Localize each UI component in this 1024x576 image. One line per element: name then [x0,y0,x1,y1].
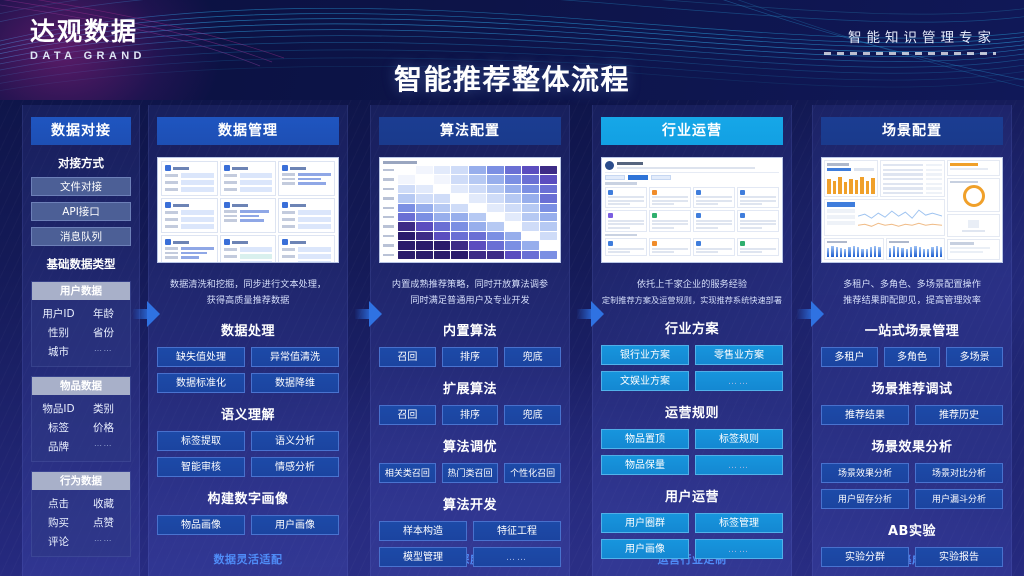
chip-group-user-operation: 用户圈群 标签管理 用户画像 …… [601,513,783,559]
footer-tag-data-management: 数据灵活适配 [148,551,348,567]
field-purchase: 购买 [36,515,81,530]
field-item-more: …… [81,439,126,454]
field-behavior-more: …… [81,534,126,549]
desc-line: 同时满足普通用户及专业开发 [379,293,561,309]
chip-user-portrait[interactable]: 用户画像 [601,539,689,559]
desc-line: 多租户、多角色、多场景配置操作 [821,277,1003,293]
column-algorithm-config: 算法配置 内置成熟推荐策略，同时开放算法调参 同时满足普通用户及专业开发 内置算… [370,105,570,576]
group-header-user-data: 用户数据 [32,282,130,300]
chip-entertainment-solution[interactable]: 文娱业方案 [601,371,689,391]
page-title: 智能推荐整体流程 [0,58,1024,98]
logo-chinese: 达观数据 [30,18,146,47]
chip-feature-engineering[interactable]: 特征工程 [473,521,561,541]
chip-group-algorithm-tuning: 相关类召回 热门类召回 个性化召回 [379,463,561,483]
field-tag: 标签 [36,420,81,435]
chip-tag-extraction[interactable]: 标签提取 [157,431,245,451]
field-favorite: 收藏 [81,496,126,511]
chip-group-industry-solution: 银行业方案 零售业方案 文娱业方案 …… [601,345,783,391]
tagline-block: 智能知识管理专家 [824,26,996,55]
field-province: 省份 [81,325,126,340]
column-scene-config: 场景配置 [812,105,1012,576]
chip-recommend-result[interactable]: 推荐结果 [821,405,909,425]
field-city: 城市 [36,344,81,359]
chip-hot-recall[interactable]: 热门类召回 [442,463,499,483]
desc-line: 数据清洗和挖掘，同步进行文本处理， [157,277,339,293]
section-title-operation-rules: 运营规则 [601,402,783,421]
chip-group-scene-debug: 推荐结果 推荐历史 [821,405,1003,425]
desc-line: 依托上千家企业的服务经验 [601,277,783,293]
chip-missing-value[interactable]: 缺失值处理 [157,347,245,367]
section-title-semantic: 语义理解 [157,404,339,423]
chip-tag-management[interactable]: 标签管理 [695,513,783,533]
tagline-divider [824,52,996,55]
chip-group-digital-profile: 物品画像 用户画像 [157,515,339,535]
section-title-algorithm-tuning: 算法调优 [379,436,561,455]
subtitle-docking-method: 对接方式 [31,155,131,171]
chip-industry-solution-more[interactable]: …… [695,371,783,391]
slide-canvas: 达观数据 DATA GRAND 智能知识管理专家 智能推荐整体流程 数据对接 对… [0,0,1024,576]
field-item-id: 物品ID [36,401,81,416]
section-title-digital-profile: 构建数字画像 [157,488,339,507]
chip-user-retention-analysis[interactable]: 用户留存分析 [821,489,909,509]
screenshot-scene-dashboard [821,157,1003,263]
arrow-1-to-2 [133,301,159,327]
chip-sample-construction[interactable]: 样本构造 [379,521,467,541]
chip-ranking-extended[interactable]: 排序 [442,405,499,425]
chip-fallback-extended[interactable]: 兜底 [504,405,561,425]
chip-user-segment[interactable]: 用户圈群 [601,513,689,533]
field-comment: 评论 [36,534,81,549]
group-header-behavior-data: 行为数据 [32,472,130,490]
desc-line: 内置成熟推荐策略，同时开放算法调参 [379,277,561,293]
section-title-onestop-scene: 一站式场景管理 [821,320,1003,339]
description-data-management: 数据清洗和挖掘，同步进行文本处理， 获得高质量推荐数据 [157,277,339,309]
column-header-data-management: 数据管理 [157,117,339,145]
column-header-algorithm-config: 算法配置 [379,117,561,145]
chip-semantic-analysis[interactable]: 语义分析 [251,431,339,451]
chip-ranking-builtin[interactable]: 排序 [442,347,499,367]
chip-group-algorithm-development: 样本构造 特征工程 模型管理 …… [379,521,561,567]
field-category: 类别 [81,401,126,416]
chip-smart-review[interactable]: 智能审核 [157,457,245,477]
chip-item-pin-top[interactable]: 物品置顶 [601,429,689,449]
section-title-data-processing: 数据处理 [157,320,339,339]
screenshot-algorithm-heatmap [379,157,561,263]
field-gender: 性别 [36,325,81,340]
section-title-builtin-algorithm: 内置算法 [379,320,561,339]
chip-experiment-group[interactable]: 实验分群 [821,547,909,567]
chip-multi-role[interactable]: 多角色 [884,347,941,367]
chip-group-operation-rules: 物品置顶 标签规则 物品保量 …… [601,429,783,475]
column-data-management: 数据管理 [148,105,348,576]
chip-group-onestop-scene: 多租户 多角色 多场景 [821,347,1003,367]
desc-line: 获得高质量推荐数据 [157,293,339,309]
chip-retail-solution[interactable]: 零售业方案 [695,345,783,365]
section-title-ab-test: AB实验 [821,520,1003,539]
chip-item-guarantee[interactable]: 物品保量 [601,455,689,475]
chip-banking-solution[interactable]: 银行业方案 [601,345,689,365]
chip-api-interface[interactable]: API接口 [31,202,131,221]
description-algorithm-config: 内置成熟推荐策略，同时开放算法调参 同时满足普通用户及专业开发 [379,277,561,309]
column-header-data-docking: 数据对接 [31,117,131,145]
screenshot-data-management [157,157,339,263]
field-user-more: …… [81,344,126,359]
desc-line: 推荐结果即配即见，提高管理效率 [821,293,1003,309]
chip-file-docking[interactable]: 文件对接 [31,177,131,196]
section-title-scene-effect: 场景效果分析 [821,436,1003,455]
chip-tag-rule[interactable]: 标签规则 [695,429,783,449]
group-behavior-data: 行为数据 点击 收藏 购买 点赞 评论 …… [31,471,131,557]
chip-item-profile[interactable]: 物品画像 [157,515,245,535]
chip-operation-rules-more[interactable]: …… [695,455,783,475]
group-user-data: 用户数据 用户ID 年龄 性别 省份 城市 …… [31,281,131,367]
flow-columns: 数据对接 对接方式 文件对接 API接口 消息队列 基础数据类型 用户数据 用户… [0,105,1024,576]
column-data-docking: 数据对接 对接方式 文件对接 API接口 消息队列 基础数据类型 用户数据 用户… [22,105,140,576]
screenshot-industry-solutions [601,157,783,263]
chip-group-data-processing: 缺失值处理 异常值清洗 数据标准化 数据降维 [157,347,339,393]
chip-user-funnel-analysis[interactable]: 用户漏斗分析 [915,489,1003,509]
chip-group-builtin-algorithm: 召回 排序 兜底 [379,347,561,367]
chip-experiment-report[interactable]: 实验报告 [915,547,1003,567]
column-header-scene-config: 场景配置 [821,117,1003,145]
section-title-scene-debug: 场景推荐调试 [821,378,1003,397]
group-item-data: 物品数据 物品ID 类别 标签 价格 品牌 …… [31,376,131,462]
group-header-item-data: 物品数据 [32,377,130,395]
field-price: 价格 [81,420,126,435]
chip-group-scene-effect: 场景效果分析 场景对比分析 用户留存分析 用户漏斗分析 [821,463,1003,509]
section-title-algorithm-development: 算法开发 [379,494,561,513]
chip-scene-compare-analysis[interactable]: 场景对比分析 [915,463,1003,483]
tagline-text: 智能知识管理专家 [824,26,996,46]
chip-multi-scene[interactable]: 多场景 [946,347,1003,367]
chip-fallback-builtin[interactable]: 兜底 [504,347,561,367]
arrow-4-to-5 [797,301,823,327]
field-age: 年龄 [81,306,126,321]
arrow-2-to-3 [355,301,381,327]
section-title-industry-solution: 行业方案 [601,318,783,337]
chip-recommend-history[interactable]: 推荐历史 [915,405,1003,425]
chip-sentiment-analysis[interactable]: 情感分析 [251,457,339,477]
field-like: 点赞 [81,515,126,530]
field-user-id: 用户ID [36,306,81,321]
section-title-user-operation: 用户运营 [601,486,783,505]
chip-dimension-reduction[interactable]: 数据降维 [251,373,339,393]
column-header-industry-operation: 行业运营 [601,117,783,145]
field-click: 点击 [36,496,81,511]
chip-multi-tenant[interactable]: 多租户 [821,347,878,367]
field-brand: 品牌 [36,439,81,454]
chip-recall-builtin[interactable]: 召回 [379,347,436,367]
arrow-3-to-4 [577,301,603,327]
chip-group-semantic: 标签提取 语义分析 智能审核 情感分析 [157,431,339,477]
chip-standardization[interactable]: 数据标准化 [157,373,245,393]
chip-recall-extended[interactable]: 召回 [379,405,436,425]
chip-model-management[interactable]: 模型管理 [379,547,467,567]
description-scene-config: 多租户、多角色、多场景配置操作 推荐结果即配即见，提高管理效率 [821,277,1003,309]
chip-outlier-cleaning[interactable]: 异常值清洗 [251,347,339,367]
subtitle-base-data-type: 基础数据类型 [31,256,131,272]
column-industry-operation: 行业运营 [592,105,792,576]
chip-related-recall[interactable]: 相关类召回 [379,463,436,483]
chip-group-ab-test: 实验分群 实验报告 [821,547,1003,567]
chip-user-profile[interactable]: 用户画像 [251,515,339,535]
chip-personalized-recall[interactable]: 个性化召回 [504,463,561,483]
chip-group-extended-algorithm: 召回 排序 兜底 [379,405,561,425]
chip-scene-effect-analysis[interactable]: 场景效果分析 [821,463,909,483]
desc-line: 定制推荐方案及运营规则，实现推荐系统快速部署 [601,293,783,307]
brand-logo: 达观数据 DATA GRAND [30,18,146,62]
description-industry-operation: 依托上千家企业的服务经验 定制推荐方案及运营规则，实现推荐系统快速部署 [601,277,783,307]
chip-user-operation-more[interactable]: …… [695,539,783,559]
chip-algorithm-dev-more[interactable]: …… [473,547,561,567]
section-title-extended-algorithm: 扩展算法 [379,378,561,397]
chip-message-queue[interactable]: 消息队列 [31,227,131,246]
